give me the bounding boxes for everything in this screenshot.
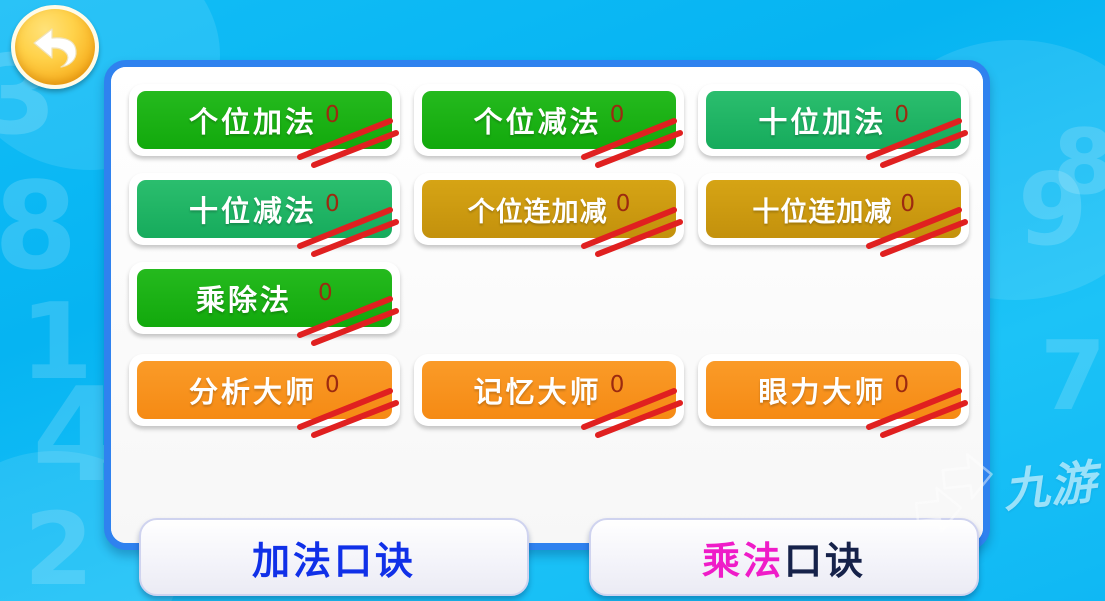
- option-multiply-divide[interactable]: 乘除法 0: [129, 262, 400, 334]
- option-label: 眼力大师: [758, 369, 886, 411]
- option-label: 分析大师: [189, 369, 317, 411]
- options-row: 分析大师 0 记忆大师: [129, 354, 969, 436]
- bg-numeral: 1: [20, 290, 93, 395]
- option-memory-master[interactable]: 记忆大师 0: [414, 354, 685, 426]
- options-panel: 个位加法 0 个位减法: [104, 60, 990, 550]
- option-face: 分析大师 0: [137, 361, 392, 419]
- option-units-subtraction[interactable]: 个位减法 0: [414, 84, 685, 156]
- options-row: 个位加法 0 个位减法: [129, 84, 969, 166]
- grid-cell: 分析大师 0: [129, 354, 400, 436]
- option-face: 乘除法 0: [137, 269, 392, 327]
- multiplication-formula-label-part2: 口诀: [784, 530, 866, 585]
- option-count: 0: [325, 193, 340, 216]
- addition-formula-label: 加法口诀: [252, 530, 416, 585]
- option-count: 0: [610, 374, 625, 397]
- bg-numeral: 9: [1018, 160, 1088, 260]
- option-label: 个位加法: [189, 99, 317, 141]
- option-count: 0: [318, 282, 333, 305]
- option-face: 个位连加减 0: [422, 180, 677, 238]
- grid-cell: 乘除法 0: [129, 262, 400, 344]
- option-face: 记忆大师 0: [422, 361, 677, 419]
- option-tens-chain-addsub[interactable]: 十位连加减 0: [698, 173, 969, 245]
- bg-numeral: 8: [1053, 118, 1105, 208]
- grid-cell: 十位减法 0: [129, 173, 400, 255]
- red-strike-icon: [286, 287, 406, 347]
- back-button[interactable]: [11, 5, 99, 89]
- options-grid: 个位加法 0 个位减法: [129, 84, 969, 443]
- grid-cell: 十位连加减 0: [698, 173, 969, 255]
- option-label: 十位加法: [758, 99, 886, 141]
- option-label: 十位连加减: [752, 190, 892, 229]
- back-arrow-icon: [27, 22, 83, 72]
- option-count: 0: [325, 104, 340, 127]
- bg-numeral: 8: [0, 168, 78, 288]
- option-face: 个位减法 0: [422, 91, 677, 149]
- bg-numeral: 2: [24, 500, 94, 600]
- option-tens-subtraction[interactable]: 十位减法 0: [129, 173, 400, 245]
- option-units-chain-addsub[interactable]: 个位连加减 0: [414, 173, 685, 245]
- multiplication-formula-label-part1: 乘法: [702, 530, 784, 585]
- grid-cell: 十位加法 0: [698, 84, 969, 166]
- options-row: 十位减法 0 个位连加减: [129, 173, 969, 255]
- option-face: 十位减法 0: [137, 180, 392, 238]
- option-eyesight-master[interactable]: 眼力大师 0: [698, 354, 969, 426]
- game-screen: 8 1 4 9 8 3 7 2 个位加法 0: [0, 0, 1105, 601]
- watermark-text: 九游: [1000, 445, 1100, 520]
- option-count: 0: [616, 193, 631, 216]
- option-analysis-master[interactable]: 分析大师 0: [129, 354, 400, 426]
- option-tens-addition[interactable]: 十位加法 0: [698, 84, 969, 156]
- option-label: 个位连加减: [468, 190, 608, 229]
- option-count: 0: [894, 374, 909, 397]
- bg-numeral: 7: [1040, 330, 1105, 425]
- option-count: 0: [900, 193, 915, 216]
- grid-cell: 眼力大师 0: [698, 354, 969, 436]
- grid-cell: 个位连加减 0: [414, 173, 685, 255]
- option-face: 十位连加减 0: [706, 180, 961, 238]
- option-label: 个位减法: [474, 99, 602, 141]
- addition-formula-button[interactable]: 加法口诀: [139, 518, 529, 596]
- option-face: 眼力大师 0: [706, 361, 961, 419]
- grid-cell: 记忆大师 0: [414, 354, 685, 436]
- option-face: 个位加法 0: [137, 91, 392, 149]
- grid-cell: 个位减法 0: [414, 84, 685, 166]
- option-label: 十位减法: [189, 188, 317, 230]
- option-count: 0: [325, 374, 340, 397]
- option-count: 0: [610, 104, 625, 127]
- options-panel-inner: 个位加法 0 个位减法: [111, 67, 983, 543]
- option-count: 0: [894, 104, 909, 127]
- option-face: 十位加法 0: [706, 91, 961, 149]
- multiplication-formula-button[interactable]: 乘法口诀: [589, 518, 979, 596]
- options-row: 乘除法 0: [129, 262, 969, 344]
- option-units-addition[interactable]: 个位加法 0: [129, 84, 400, 156]
- option-label: 记忆大师: [474, 369, 602, 411]
- option-label: 乘除法: [196, 277, 292, 319]
- grid-cell: 个位加法 0: [129, 84, 400, 166]
